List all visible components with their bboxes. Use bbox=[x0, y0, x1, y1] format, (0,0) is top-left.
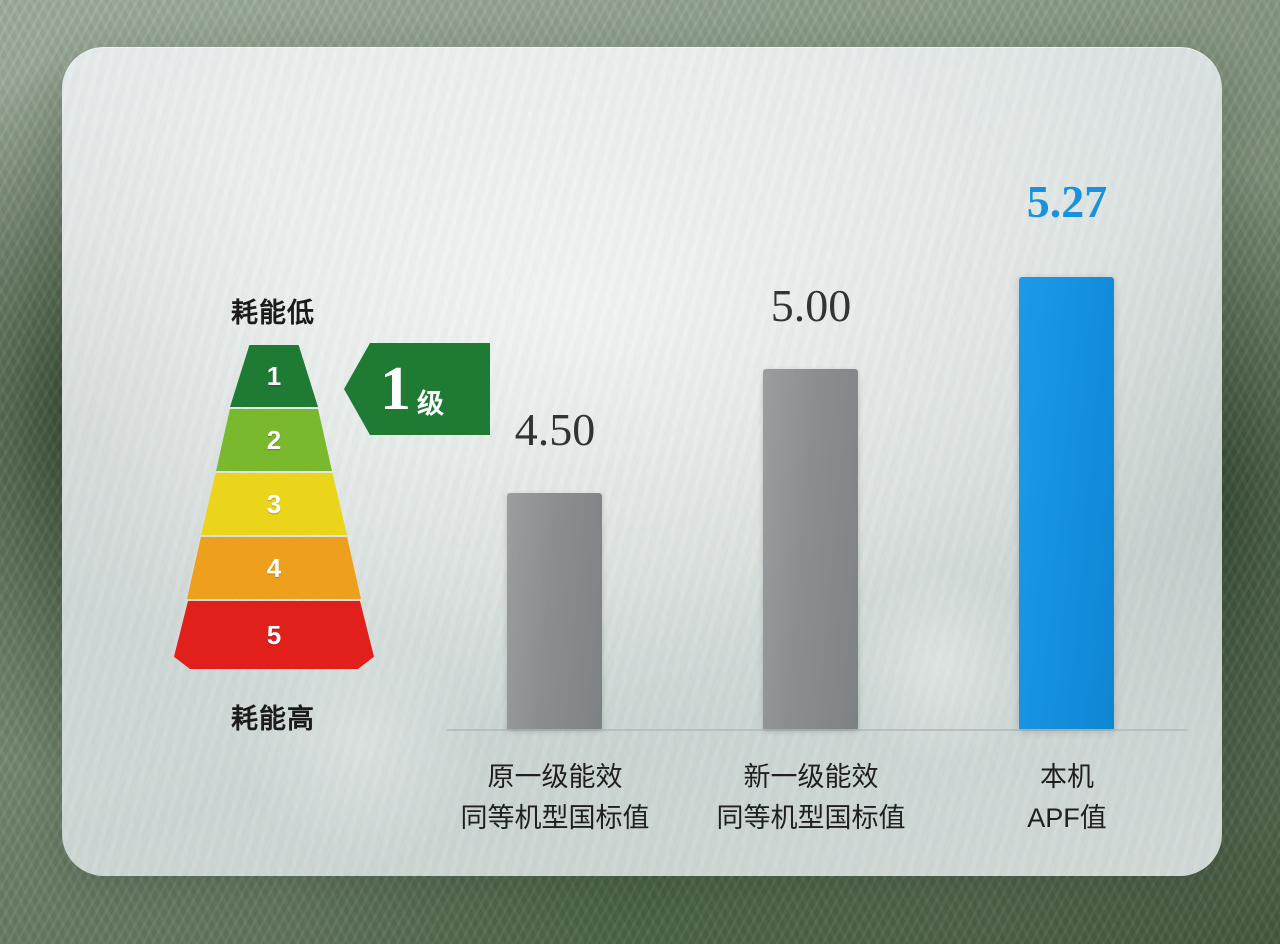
pyramid-level-3: 3 bbox=[201, 473, 347, 535]
bar-label-0: 原一级能效 同等机型国标值 bbox=[445, 757, 665, 838]
screenshot-root: 耗能低 1 2 3 4 5 耗能高 bbox=[0, 0, 1280, 944]
energy-pyramid: 1 2 3 4 5 bbox=[174, 345, 374, 685]
bar-label-0-line1: 原一级能效 bbox=[445, 757, 665, 798]
bar-group-0: 4.50 原一级能效 同等机型国标值 bbox=[455, 137, 655, 857]
pyramid-level-3-label: 3 bbox=[267, 491, 281, 517]
pyramid-level-4-label: 4 bbox=[267, 555, 281, 581]
bar-label-1-line1: 新一级能效 bbox=[701, 757, 921, 798]
bar-label-0-line2: 同等机型国标值 bbox=[445, 798, 665, 839]
pyramid-level-4: 4 bbox=[187, 537, 361, 599]
bar-group-1: 5.00 新一级能效 同等机型国标值 bbox=[711, 137, 911, 857]
bar-group-2: 5.27 本机 APF值 bbox=[967, 137, 1167, 857]
scale-caption-high: 耗能高 bbox=[138, 697, 408, 736]
pyramid-level-2: 2 bbox=[216, 409, 332, 471]
bar-value-1: 5.00 bbox=[711, 279, 911, 332]
pyramid-level-5: 5 bbox=[174, 601, 374, 669]
bar-value-0: 4.50 bbox=[455, 403, 655, 456]
energy-efficiency-card: 耗能低 1 2 3 4 5 耗能高 bbox=[62, 47, 1222, 876]
bar-label-2: 本机 APF值 bbox=[957, 757, 1177, 838]
bar-label-2-line1: 本机 bbox=[957, 757, 1177, 798]
bar-0 bbox=[507, 493, 602, 729]
grade-badge-number: 1 bbox=[380, 358, 411, 420]
pyramid-level-1-label: 1 bbox=[267, 363, 281, 389]
pyramid-level-5-label: 5 bbox=[267, 622, 281, 648]
bar-label-1-line2: 同等机型国标值 bbox=[701, 798, 921, 839]
bar-1 bbox=[763, 369, 858, 729]
bar-label-2-line2: APF值 bbox=[957, 798, 1177, 839]
pyramid-level-2-label: 2 bbox=[267, 427, 281, 453]
grade-badge-unit: 级 bbox=[417, 382, 444, 421]
bar-2 bbox=[1019, 277, 1114, 729]
scale-caption-low: 耗能低 bbox=[138, 291, 408, 330]
apf-bar-chart: 4.50 原一级能效 同等机型国标值 5.00 新一级能效 同等机型国标值 5.… bbox=[447, 137, 1187, 857]
bar-value-2: 5.27 bbox=[967, 175, 1167, 228]
bar-label-1: 新一级能效 同等机型国标值 bbox=[701, 757, 921, 838]
pyramid-level-1: 1 bbox=[230, 345, 318, 407]
energy-label-scale: 耗能低 1 2 3 4 5 耗能高 bbox=[138, 247, 408, 767]
